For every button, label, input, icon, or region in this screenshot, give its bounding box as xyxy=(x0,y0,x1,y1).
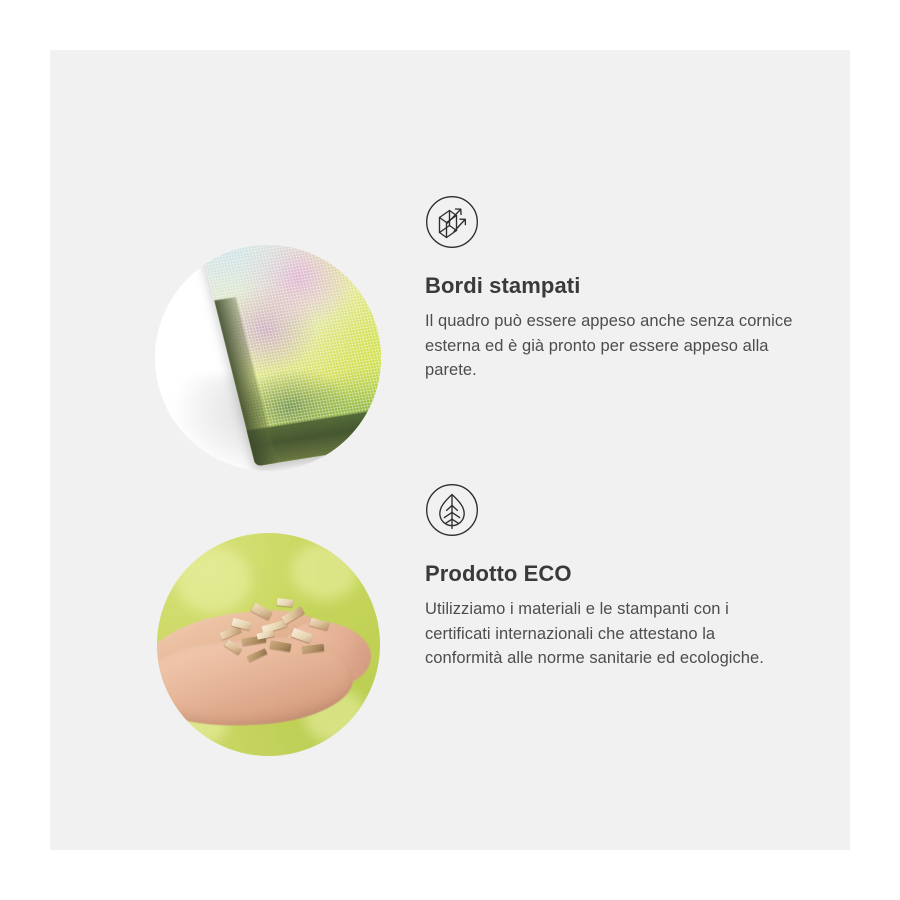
hands-holding-wood-chips-photo xyxy=(157,533,380,756)
product-feature-infographic: Bordi stampati Il quadro può essere appe… xyxy=(0,0,900,900)
feature-description: Utilizziamo i materiali e le stampanti c… xyxy=(425,597,797,670)
feature-description: Il quadro può essere appeso anche senza … xyxy=(425,309,797,382)
canvas-print-corner-photo xyxy=(155,245,381,471)
leaf-icon xyxy=(425,483,479,537)
feature-text-eco-product: Prodotto ECO Utilizziamo i materiali e l… xyxy=(425,483,820,670)
content-panel: Bordi stampati Il quadro può essere appe… xyxy=(50,50,850,850)
wood-chips-pile xyxy=(215,595,340,675)
feature-block-printed-edges: Bordi stampati Il quadro può essere appe… xyxy=(50,195,850,475)
feature-title: Prodotto ECO xyxy=(425,561,820,587)
canvas-wrapped-edges-icon xyxy=(425,195,479,249)
feature-block-eco-product: Prodotto ECO Utilizziamo i materiali e l… xyxy=(50,483,850,763)
feature-title: Bordi stampati xyxy=(425,273,820,299)
bokeh-highlight xyxy=(291,542,358,600)
feature-text-printed-edges: Bordi stampati Il quadro può essere appe… xyxy=(425,195,820,382)
